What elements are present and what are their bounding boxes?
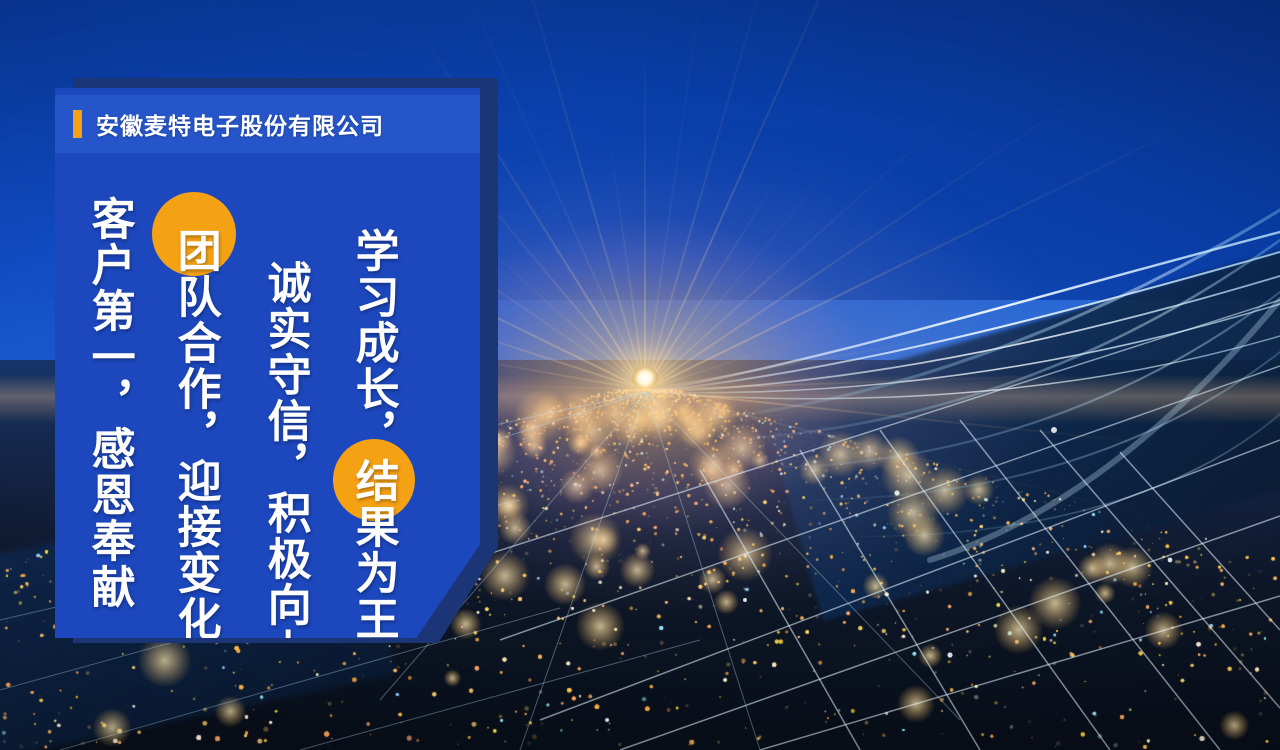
culture-panel: 安徽麦特电子股份有限公司 客户第一，感恩奉献 团队合作，迎接变化 诚实守信，积极… bbox=[55, 88, 480, 638]
burst-core bbox=[632, 367, 658, 389]
slogan-learning-growth: 学习成长，结果为王 bbox=[349, 228, 396, 642]
slogan-teamwork: 团队合作，迎接变化 bbox=[171, 228, 218, 642]
slogan-integrity: 诚实守信，积极向上 bbox=[261, 260, 308, 674]
slogan-customer-first: 客户第一，感恩奉献 bbox=[85, 196, 132, 610]
slogan-group: 客户第一，感恩奉献 团队合作，迎接变化 诚实守信，积极向上 学习成长，结果为王 bbox=[55, 88, 480, 638]
banner-stage: 安徽麦特电子股份有限公司 客户第一，感恩奉献 团队合作，迎接变化 诚实守信，积极… bbox=[0, 0, 1280, 750]
